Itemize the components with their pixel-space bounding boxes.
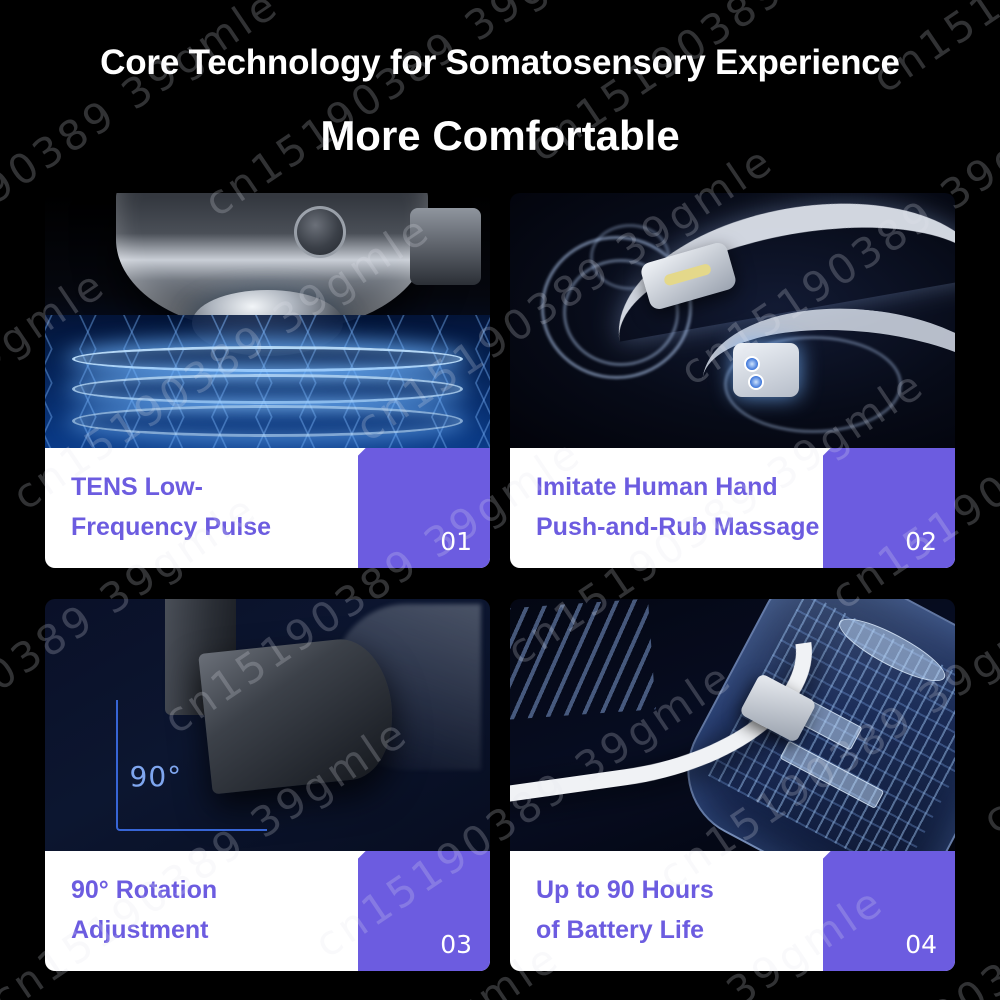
feature-label: Up to 90 Hours of Battery Life 04 bbox=[510, 851, 955, 971]
electrode-dot-shape bbox=[748, 374, 764, 390]
feature-label: TENS Low- Frequency Pulse 01 bbox=[45, 448, 490, 568]
pulse-ring-shape bbox=[72, 346, 464, 372]
massager-node-shape bbox=[733, 343, 800, 397]
poster-headings: Core Technology for Somatosensory Experi… bbox=[0, 0, 1000, 159]
feature-label: Imitate Human Hand Push-and-Rub Massage … bbox=[510, 448, 955, 568]
feature-number: 02 bbox=[905, 527, 937, 556]
feature-photo-tens bbox=[45, 193, 490, 448]
feature-label: 90° Rotation Adjustment 03 bbox=[45, 851, 490, 971]
feature-card[interactable]: 90° 90° Rotation Adjustment 03 bbox=[45, 599, 490, 971]
angle-annotation-label: 90° bbox=[130, 760, 183, 793]
feature-number: 01 bbox=[440, 527, 472, 556]
page-subtitle: More Comfortable bbox=[0, 113, 1000, 159]
feature-photo-hand-massage bbox=[510, 193, 955, 448]
electrode-knob-shape bbox=[294, 206, 346, 258]
feature-number: 04 bbox=[905, 930, 937, 959]
feature-title-line1: Imitate Human Hand bbox=[536, 474, 929, 500]
feature-card[interactable]: Up to 90 Hours of Battery Life 04 bbox=[510, 599, 955, 971]
feature-title-line1: 90° Rotation bbox=[71, 877, 464, 903]
feature-title-line2: of Battery Life bbox=[536, 917, 929, 943]
feature-title-line2: Frequency Pulse bbox=[71, 514, 464, 540]
feature-card[interactable]: Imitate Human Hand Push-and-Rub Massage … bbox=[510, 193, 955, 568]
feature-title-line1: TENS Low- bbox=[71, 474, 464, 500]
page-title: Core Technology for Somatosensory Experi… bbox=[0, 44, 1000, 83]
feature-photo-rotation: 90° bbox=[45, 599, 490, 851]
feature-number: 03 bbox=[440, 930, 472, 959]
product-feature-poster: cn15190389 39gmlecn15190389 39gmlecn1519… bbox=[0, 0, 1000, 1000]
feature-card[interactable]: TENS Low- Frequency Pulse 01 bbox=[45, 193, 490, 568]
electrode-dot-shape bbox=[744, 356, 760, 372]
feature-photo-battery bbox=[510, 599, 955, 851]
feature-title-line1: Up to 90 Hours bbox=[536, 877, 929, 903]
pulse-ring-shape bbox=[72, 405, 464, 437]
pulse-ring-shape bbox=[72, 374, 464, 404]
feature-title-line2: Adjustment bbox=[71, 917, 464, 943]
electrode-arm-shape bbox=[410, 208, 481, 285]
feature-title-line2: Push-and-Rub Massage bbox=[536, 514, 929, 540]
feature-card-grid: TENS Low- Frequency Pulse 01 Imit bbox=[45, 193, 955, 971]
